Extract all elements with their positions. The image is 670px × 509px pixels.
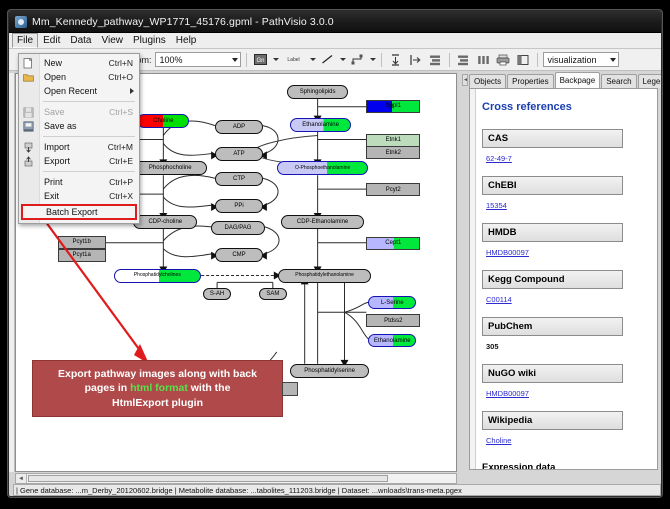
align-left-tool-button[interactable] bbox=[407, 52, 424, 68]
xref-link[interactable]: Choline bbox=[486, 436, 511, 445]
file-menu-open-accel: Ctrl+O bbox=[108, 72, 133, 82]
interaction-tool-button[interactable] bbox=[349, 52, 366, 68]
hscroll-thumb[interactable] bbox=[28, 475, 388, 482]
file-menu-exit[interactable]: Exit Ctrl+X bbox=[19, 189, 139, 203]
callout-line2-b: with the bbox=[188, 382, 231, 394]
title-bar: Mm_Kennedy_pathway_WP1771_45176.gpml - P… bbox=[9, 11, 661, 33]
distribute-icon bbox=[457, 54, 470, 66]
file-menu-separator-3 bbox=[43, 171, 135, 172]
pathway-node-o-phosphoethanolamine[interactable]: O-Phosphoethanolamine bbox=[277, 161, 369, 175]
file-menu-batch-export[interactable]: Batch Export bbox=[21, 204, 137, 220]
file-menu-import-label: Import bbox=[44, 142, 70, 152]
line-tool-button[interactable] bbox=[319, 52, 336, 68]
toolbar-divider-4 bbox=[537, 53, 538, 67]
pathway-node-label: Pcyt1a bbox=[73, 252, 91, 258]
xref-link[interactable]: HMDB00097 bbox=[486, 248, 529, 257]
submenu-arrow-icon bbox=[130, 88, 134, 94]
menu-view[interactable]: View bbox=[96, 33, 128, 48]
menu-edit[interactable]: Edit bbox=[38, 33, 65, 48]
file-menu-import-accel: Ctrl+M bbox=[108, 142, 133, 152]
xref-section-title: ChEBI bbox=[482, 176, 623, 195]
pathway-node-pcyt1a[interactable]: Pcyt1a bbox=[58, 249, 106, 262]
pathway-node-label: Sphingolipids bbox=[300, 89, 336, 95]
save-disk-icon bbox=[23, 107, 34, 118]
pathway-node-label: Cept1 bbox=[385, 240, 401, 246]
pathway-node-label: DAG/PAG bbox=[225, 225, 252, 231]
toolbar-divider bbox=[246, 53, 247, 67]
pathway-node-atp[interactable]: ATP bbox=[215, 147, 263, 161]
visualization-combobox[interactable]: visualization bbox=[543, 52, 619, 67]
xref-value-row: HMDB00097 bbox=[478, 242, 649, 270]
file-menu-export-accel: Ctrl+E bbox=[109, 156, 133, 166]
line-icon bbox=[321, 54, 334, 65]
label-tool-button[interactable]: Label bbox=[282, 52, 306, 68]
align-top-icon bbox=[389, 54, 402, 66]
xref-link[interactable]: 15354 bbox=[486, 201, 507, 210]
tab-legend[interactable]: Legend bbox=[638, 74, 662, 88]
file-menu-print[interactable]: Print Ctrl+P bbox=[19, 175, 139, 189]
menu-plugins[interactable]: Plugins bbox=[128, 33, 171, 48]
printer-icon bbox=[496, 54, 510, 66]
callout-line1: Export pathway images along with back bbox=[58, 368, 257, 380]
pathway-node-cmp[interactable]: CMP bbox=[215, 248, 263, 262]
file-menu-batch-export-label: Batch Export bbox=[46, 207, 98, 217]
pathway-node-adp[interactable]: ADP bbox=[215, 120, 263, 134]
pathway-node-phosphocholine[interactable]: Phosphocholine bbox=[133, 161, 207, 175]
datanode-dropdown-icon[interactable] bbox=[273, 58, 279, 61]
xref-section-title: Kegg Compound bbox=[482, 270, 623, 289]
interaction-icon bbox=[351, 54, 364, 65]
stack-tool-button[interactable] bbox=[427, 52, 444, 68]
pathway-node-cept1[interactable]: Cept1 bbox=[366, 237, 420, 250]
file-menu-save-as[interactable]: Save as bbox=[19, 119, 139, 133]
pathway-node-sam1[interactable]: S-AH bbox=[203, 288, 231, 300]
pathway-node-label: ATP bbox=[233, 151, 244, 157]
pathway-node-choline[interactable]: Choline bbox=[137, 114, 189, 128]
pathway-node-phosphatidylserine[interactable]: Phosphatidylserine bbox=[290, 364, 370, 378]
pathway-node-sgpl1[interactable]: Sgpl1 bbox=[366, 100, 420, 113]
backpage-gutter bbox=[470, 89, 476, 469]
file-menu-export[interactable]: Export Ctrl+E bbox=[19, 154, 139, 168]
pathway-node-ctp[interactable]: CTP bbox=[215, 172, 263, 186]
xref-link[interactable]: 62-49-7 bbox=[486, 154, 512, 163]
import-icon bbox=[23, 142, 34, 153]
xref-section-title: HMDB bbox=[482, 223, 623, 242]
pathway-node-label: CTP bbox=[233, 176, 245, 182]
xref-section-title: PubChem bbox=[482, 317, 623, 336]
file-menu-print-label: Print bbox=[44, 177, 63, 187]
callout-highlight: html format bbox=[130, 382, 188, 394]
pathway-node-label: Phosphatidylserine bbox=[304, 368, 355, 374]
file-menu-separator-2 bbox=[43, 136, 135, 137]
tabstrip-overflow-icon[interactable]: ◄ bbox=[462, 74, 468, 86]
xref-section-title: CAS bbox=[482, 129, 623, 148]
pathway-node-label: CDP-Ethanolamine bbox=[297, 219, 348, 225]
label-tool-text: Label bbox=[287, 57, 299, 63]
pathway-node-etnk2[interactable]: Etnk2 bbox=[366, 146, 420, 159]
pathway-node-label: Sgpl1 bbox=[386, 103, 401, 109]
pathvisio-window: Mm_Kennedy_pathway_WP1771_45176.gpml - P… bbox=[8, 10, 662, 497]
print-tool-button[interactable] bbox=[495, 52, 512, 68]
file-menu-separator-1 bbox=[43, 101, 135, 102]
pathway-node-label: Phosphatidylethanolamine bbox=[295, 273, 354, 278]
pathway-node-cdp-ethanolamine[interactable]: CDP-Ethanolamine bbox=[281, 215, 365, 229]
pathway-node-label: S-AH bbox=[210, 291, 224, 297]
pathway-node-l-serine[interactable]: L-Serine bbox=[368, 296, 416, 309]
xref-value-row: C00114 bbox=[478, 289, 649, 317]
datanode-tool-button[interactable]: Gn bbox=[252, 52, 269, 68]
open-folder-icon bbox=[23, 72, 34, 83]
sidebar-tabstrip: ◄ Objects Properties Backpage Search Leg… bbox=[461, 73, 658, 88]
distribute-tool-button[interactable] bbox=[455, 52, 472, 68]
expression-data-heading: Expression data bbox=[482, 462, 649, 470]
menu-help[interactable]: Help bbox=[171, 33, 202, 48]
file-menu-new[interactable]: New Ctrl+N bbox=[19, 56, 139, 70]
zoom-combobox[interactable]: 100% bbox=[155, 52, 241, 67]
pathway-node-label: Ethanolamine bbox=[374, 338, 411, 344]
pathway-node-label: O-Phosphoethanolamine bbox=[295, 166, 350, 171]
pathway-node-label: Pcyt1b bbox=[73, 239, 91, 245]
xref-link[interactable]: C00114 bbox=[486, 295, 512, 304]
new-file-icon bbox=[23, 58, 34, 69]
toolbar-divider-2 bbox=[381, 53, 382, 67]
pathway-node-label: Ptdss2 bbox=[384, 318, 402, 324]
pathway-node-ptdss2[interactable]: Ptdss2 bbox=[366, 314, 420, 327]
file-menu-save-accel: Ctrl+S bbox=[109, 107, 133, 117]
pathway-node-ethanolamine1[interactable]: Ethanolamine bbox=[290, 118, 352, 132]
pathway-node-label: CDP-choline bbox=[148, 219, 182, 225]
tab-objects[interactable]: Objects bbox=[469, 74, 506, 88]
pathway-node-pcyt1b[interactable]: Pcyt1b bbox=[58, 236, 106, 249]
status-bar: | Gene database: ...m_Derby_20120602.bri… bbox=[13, 484, 661, 496]
pathway-node-ethanolamine2[interactable]: Ethanolamine bbox=[368, 334, 416, 347]
pathway-node-phosphatidylcholines[interactable]: Phosphatidylcholines bbox=[114, 269, 202, 283]
pathway-anchor-box[interactable] bbox=[282, 382, 298, 396]
pathway-node-pcyt2[interactable]: Pcyt2 bbox=[366, 183, 420, 196]
visualization-value: visualization bbox=[548, 55, 597, 65]
file-menu-save-label: Save bbox=[44, 107, 65, 117]
file-menu-open-recent-label: Open Recent bbox=[44, 86, 97, 96]
file-menu-exit-label: Exit bbox=[44, 191, 59, 201]
cross-reference-list: CAS62-49-7ChEBI15354HMDBHMDB00097Kegg Co… bbox=[478, 129, 649, 458]
pathvisio-icon bbox=[15, 16, 27, 28]
xref-value: 305 bbox=[486, 342, 499, 351]
line-dropdown-icon[interactable] bbox=[340, 58, 346, 61]
xref-value-row: Choline bbox=[478, 430, 649, 458]
datanode-icon: Gn bbox=[254, 54, 267, 65]
file-menu-new-accel: Ctrl+N bbox=[109, 58, 133, 68]
pathway-node-label: CMP bbox=[232, 252, 245, 258]
align-left-icon bbox=[409, 54, 422, 66]
file-menu-open-label: Open bbox=[44, 72, 66, 82]
file-menu-new-label: New bbox=[44, 58, 62, 68]
pathway-node-sam2[interactable]: SAM bbox=[259, 288, 287, 300]
pathway-node-label: Etnk2 bbox=[386, 150, 401, 156]
xref-value-row: 15354 bbox=[478, 195, 649, 223]
file-menu-open[interactable]: Open Ctrl+O bbox=[19, 70, 139, 84]
menu-file[interactable]: File bbox=[12, 33, 38, 48]
columns-icon bbox=[477, 54, 490, 66]
chevron-down-icon bbox=[232, 58, 238, 62]
svg-text:Gn: Gn bbox=[256, 58, 264, 64]
pathway-node-label: Etnk1 bbox=[386, 137, 401, 143]
sidebar-tool-button[interactable] bbox=[515, 52, 532, 68]
backpage-title: Cross references bbox=[482, 101, 649, 113]
screenshot-root: Mm_Kennedy_pathway_WP1771_45176.gpml - P… bbox=[0, 0, 670, 509]
interaction-dropdown-icon[interactable] bbox=[370, 58, 376, 61]
pathway-node-sphingolipids[interactable]: Sphingolipids bbox=[287, 85, 349, 99]
xref-section-title: NuGO wiki bbox=[482, 364, 623, 383]
file-menu-save: Save Ctrl+S bbox=[19, 105, 139, 119]
pathway-node-dag-pag[interactable]: DAG/PAG bbox=[211, 221, 265, 235]
file-menu-popup[interactable]: New Ctrl+N Open Ctrl+O Open Recent bbox=[18, 53, 140, 224]
file-menu-save-as-label: Save as bbox=[44, 121, 77, 131]
chevron-down-icon-2 bbox=[610, 58, 616, 62]
stack-icon bbox=[429, 54, 442, 66]
menu-bar: File Edit Data View Plugins Help bbox=[9, 33, 661, 49]
label-dropdown-icon[interactable] bbox=[310, 58, 316, 61]
window-title: Mm_Kennedy_pathway_WP1771_45176.gpml - P… bbox=[32, 16, 334, 28]
pathway-node-label: ADP bbox=[233, 124, 245, 130]
pathway-node-cdp-choline[interactable]: CDP-choline bbox=[133, 215, 197, 229]
columns-tool-button[interactable] bbox=[475, 52, 492, 68]
zoom-value: 100% bbox=[160, 55, 183, 65]
scroll-left-button[interactable]: ◄ bbox=[16, 474, 27, 483]
callout-line3: HtmlExport plugin bbox=[112, 397, 203, 409]
sidebar-icon bbox=[517, 54, 530, 66]
side-panel: ◄ Objects Properties Backpage Search Leg… bbox=[459, 71, 661, 496]
xref-value-row: HMDB00097 bbox=[478, 383, 649, 411]
xref-link[interactable]: HMDB00097 bbox=[486, 389, 529, 398]
annotation-callout: Export pathway images along with back pa… bbox=[32, 360, 283, 417]
pathway-node-label: PPi bbox=[234, 203, 243, 209]
pathway-node-label: Choline bbox=[153, 118, 173, 124]
file-menu-import[interactable]: Import Ctrl+M bbox=[19, 140, 139, 154]
callout-line2-a: pages in bbox=[85, 382, 131, 394]
pathway-node-label: Pcyt2 bbox=[386, 187, 401, 193]
xref-section-title: Wikipedia bbox=[482, 411, 623, 430]
backpage-content[interactable]: Cross references CAS62-49-7ChEBI15354HMD… bbox=[469, 88, 658, 470]
tab-backpage[interactable]: Backpage bbox=[555, 72, 601, 88]
tab-properties[interactable]: Properties bbox=[507, 74, 553, 88]
pathway-node-etnk1[interactable]: Etnk1 bbox=[366, 134, 420, 147]
pathway-node-label: Ethanolamine bbox=[302, 122, 339, 128]
file-menu-export-label: Export bbox=[44, 156, 70, 166]
menu-data[interactable]: Data bbox=[65, 33, 96, 48]
export-icon bbox=[23, 156, 34, 167]
align-top-tool-button[interactable] bbox=[387, 52, 404, 68]
save-as-icon bbox=[23, 121, 34, 132]
file-menu-open-recent[interactable]: Open Recent bbox=[19, 84, 139, 98]
pathway-node-label: SAM bbox=[266, 291, 279, 297]
pathway-node-label: L-Serine bbox=[381, 300, 404, 306]
pathway-node-ppi[interactable]: PPi bbox=[215, 199, 263, 213]
file-menu-print-accel: Ctrl+P bbox=[109, 177, 133, 187]
tab-search[interactable]: Search bbox=[601, 74, 636, 88]
xref-value-row: 305 bbox=[478, 336, 649, 364]
file-menu-exit-accel: Ctrl+X bbox=[109, 191, 133, 201]
pathway-node-label: Phosphocholine bbox=[149, 165, 192, 171]
xref-value-row: 62-49-7 bbox=[478, 148, 649, 176]
pathway-node-label: Phosphatidylcholines bbox=[134, 273, 181, 278]
canvas-hscrollbar[interactable]: ◄ bbox=[15, 473, 457, 484]
pathway-node-phosphatidylethanolamine[interactable]: Phosphatidylethanolamine bbox=[278, 269, 372, 283]
toolbar-divider-3 bbox=[449, 53, 450, 67]
